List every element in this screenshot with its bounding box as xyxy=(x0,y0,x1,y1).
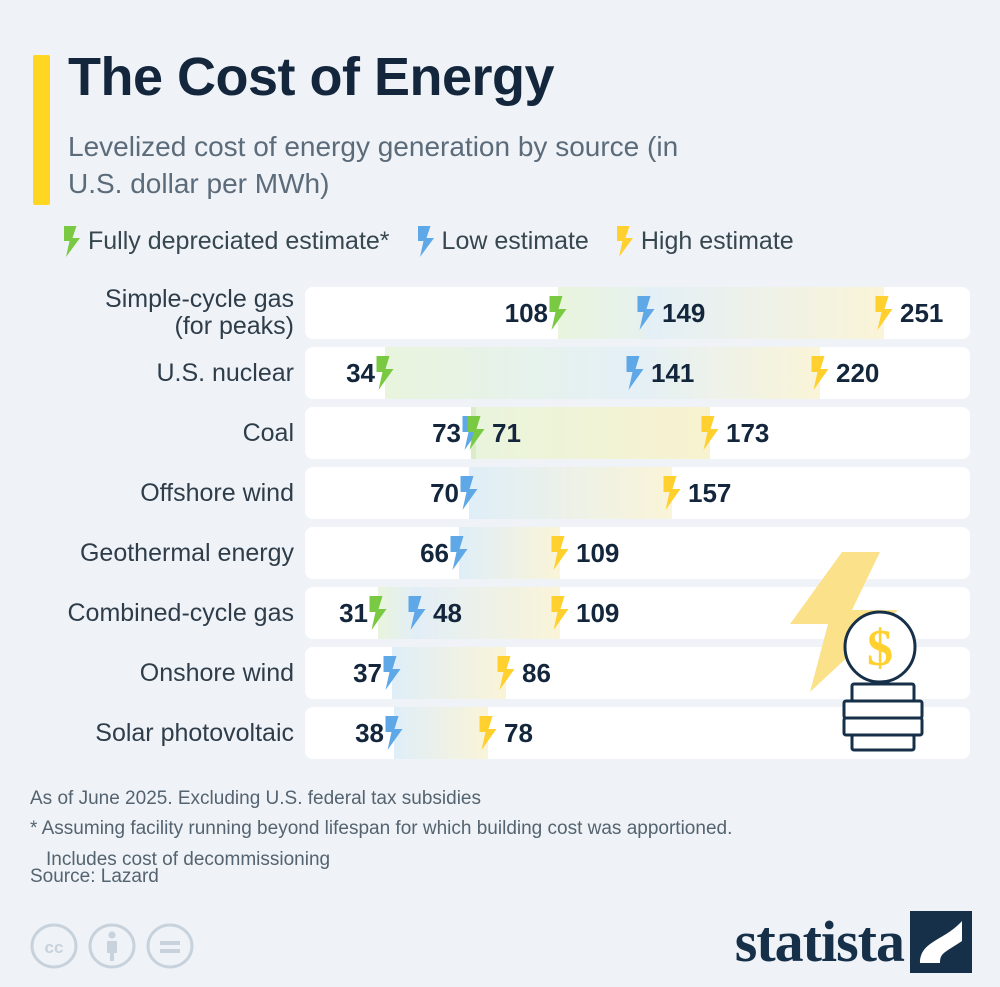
marker-low xyxy=(407,587,428,639)
svg-text:cc: cc xyxy=(45,938,64,957)
value-depreciated: 73 xyxy=(432,407,466,459)
lightning-bolt-icon xyxy=(466,416,487,450)
legend-item-low-estimate: Low estimate xyxy=(416,226,589,257)
value-high: 109 xyxy=(571,587,619,639)
lightning-bolt-icon xyxy=(625,356,646,390)
lightning-bolt-icon xyxy=(496,656,517,690)
lightning-bolt-icon xyxy=(810,356,831,390)
row-label-solar-photovoltaic: Solar photovoltaic xyxy=(0,707,300,759)
value-high: 157 xyxy=(683,467,731,519)
legend-label-fully-depreciated: Fully depreciated estimate* xyxy=(88,227,390,256)
value-low: 48 xyxy=(428,587,462,639)
bar-track: 73 71 173 xyxy=(305,407,970,459)
bar-track: 38 78 xyxy=(305,707,970,759)
bar-fill-green-to-blue xyxy=(558,287,646,339)
bar-fill-blue-to-yellow xyxy=(394,707,488,759)
bar-track: 108 149 251 xyxy=(305,287,970,339)
bar-fill-blue-to-yellow xyxy=(392,647,506,699)
value-high: 78 xyxy=(499,707,533,759)
marker-high xyxy=(550,527,571,579)
table-row: Offshore wind 70 157 xyxy=(0,467,1000,519)
creative-commons-icon[interactable]: cc xyxy=(30,922,78,970)
table-row: Coal 73 71 xyxy=(0,407,1000,459)
row-label-coal: Coal xyxy=(0,407,300,459)
statista-mark-icon xyxy=(910,911,972,973)
marker-high xyxy=(550,587,571,639)
statista-wordmark: statista xyxy=(735,908,904,975)
legend-item-fully-depreciated: Fully depreciated estimate* xyxy=(62,226,390,257)
value-low: 71 xyxy=(487,407,521,459)
value-depreciated: 108 xyxy=(505,287,553,339)
marker-depreciated xyxy=(466,407,487,459)
value-high: 220 xyxy=(831,347,879,399)
footnotes: As of June 2025. Excluding U.S. federal … xyxy=(30,784,930,875)
row-label-simple-cycle-gas: Simple-cycle gas (for peaks) xyxy=(0,287,300,339)
row-label-us-nuclear: U.S. nuclear xyxy=(0,347,300,399)
title-accent-bar xyxy=(33,55,50,205)
lightning-bolt-icon xyxy=(874,296,895,330)
table-row: Geothermal energy 66 109 xyxy=(0,527,1000,579)
legend-label-high-estimate: High estimate xyxy=(641,227,794,256)
chart-rows: Simple-cycle gas (for peaks) 108 149 xyxy=(0,287,1000,767)
value-low: 38 xyxy=(355,707,389,759)
value-low: 66 xyxy=(420,527,454,579)
row-label-line-1: Combined-cycle gas xyxy=(68,600,295,627)
table-row: Onshore wind 37 86 xyxy=(0,647,1000,699)
lightning-bolt-icon xyxy=(550,536,571,570)
row-label-line-2: (for peaks) xyxy=(175,313,294,340)
footnote-line-2: * Assuming facility running beyond lifes… xyxy=(30,814,930,844)
bar-fill-blue-to-yellow xyxy=(469,467,672,519)
value-depreciated: 34 xyxy=(346,347,380,399)
bar-fill-green-to-blue xyxy=(385,347,635,399)
row-label-offshore-wind: Offshore wind xyxy=(0,467,300,519)
page-subtitle: Levelized cost of energy generation by s… xyxy=(68,128,688,202)
bar-track: 66 109 xyxy=(305,527,970,579)
source-line: Source: Lazard xyxy=(30,866,159,888)
row-label-line-1: Simple-cycle gas xyxy=(105,286,294,313)
chart-legend: Fully depreciated estimate* Low estimate… xyxy=(62,226,794,257)
table-row: Solar photovoltaic 38 78 xyxy=(0,707,1000,759)
footnote-line-3: Includes cost of decommissioning xyxy=(30,845,930,875)
creative-commons-license-icons[interactable]: cc xyxy=(30,922,194,970)
statista-logo[interactable]: statista xyxy=(735,908,972,975)
infographic-page: The Cost of Energy Levelized cost of ene… xyxy=(0,0,1000,987)
attribution-person-icon[interactable] xyxy=(88,922,136,970)
row-label-line-1: Geothermal energy xyxy=(80,540,294,567)
bar-fill-blue-to-yellow xyxy=(459,527,560,579)
marker-high xyxy=(874,287,895,339)
legend-item-high-estimate: High estimate xyxy=(615,226,794,257)
legend-label-low-estimate: Low estimate xyxy=(442,227,589,256)
table-row: U.S. nuclear 34 141 xyxy=(0,347,1000,399)
bar-track: 70 157 xyxy=(305,467,970,519)
marker-low xyxy=(625,347,646,399)
marker-high xyxy=(700,407,721,459)
marker-high xyxy=(810,347,831,399)
table-row: Simple-cycle gas (for peaks) 108 149 xyxy=(0,287,1000,339)
marker-low xyxy=(636,287,657,339)
row-label-combined-cycle-gas: Combined-cycle gas xyxy=(0,587,300,639)
value-low: 70 xyxy=(430,467,464,519)
subtitle-line-1: Levelized cost of energy generation xyxy=(68,131,510,162)
lightning-bolt-icon xyxy=(662,476,683,510)
value-high: 251 xyxy=(895,287,943,339)
row-label-geothermal-energy: Geothermal energy xyxy=(0,527,300,579)
lightning-bolt-icon xyxy=(615,226,635,257)
marker-high xyxy=(496,647,517,699)
row-label-line-1: Coal xyxy=(243,420,294,447)
row-label-onshore-wind: Onshore wind xyxy=(0,647,300,699)
bar-track: 31 48 109 xyxy=(305,587,970,639)
marker-high xyxy=(662,467,683,519)
value-high: 173 xyxy=(721,407,769,459)
value-high: 109 xyxy=(571,527,619,579)
row-label-line-1: Solar photovoltaic xyxy=(95,720,294,747)
value-low: 141 xyxy=(646,347,694,399)
bar-track: 34 141 220 xyxy=(305,347,970,399)
lightning-bolt-icon xyxy=(550,596,571,630)
row-label-line-1: Onshore wind xyxy=(140,660,294,687)
value-high: 86 xyxy=(517,647,551,699)
page-title: The Cost of Energy xyxy=(68,46,554,108)
lightning-bolt-icon xyxy=(407,596,428,630)
no-derivatives-equals-icon[interactable] xyxy=(146,922,194,970)
table-row: Combined-cycle gas 31 48 xyxy=(0,587,1000,639)
marker-high xyxy=(478,707,499,759)
bar-track: 37 86 xyxy=(305,647,970,699)
footnote-line-1: As of June 2025. Excluding U.S. federal … xyxy=(30,784,930,814)
value-low: 149 xyxy=(657,287,705,339)
lightning-bolt-icon xyxy=(62,226,82,257)
lightning-bolt-icon xyxy=(636,296,657,330)
value-depreciated: 31 xyxy=(339,587,373,639)
lightning-bolt-icon xyxy=(700,416,721,450)
value-low: 37 xyxy=(353,647,387,699)
row-label-line-1: Offshore wind xyxy=(140,480,294,507)
lightning-bolt-icon xyxy=(416,226,436,257)
lightning-bolt-icon xyxy=(478,716,499,750)
row-label-line-1: U.S. nuclear xyxy=(156,360,294,387)
